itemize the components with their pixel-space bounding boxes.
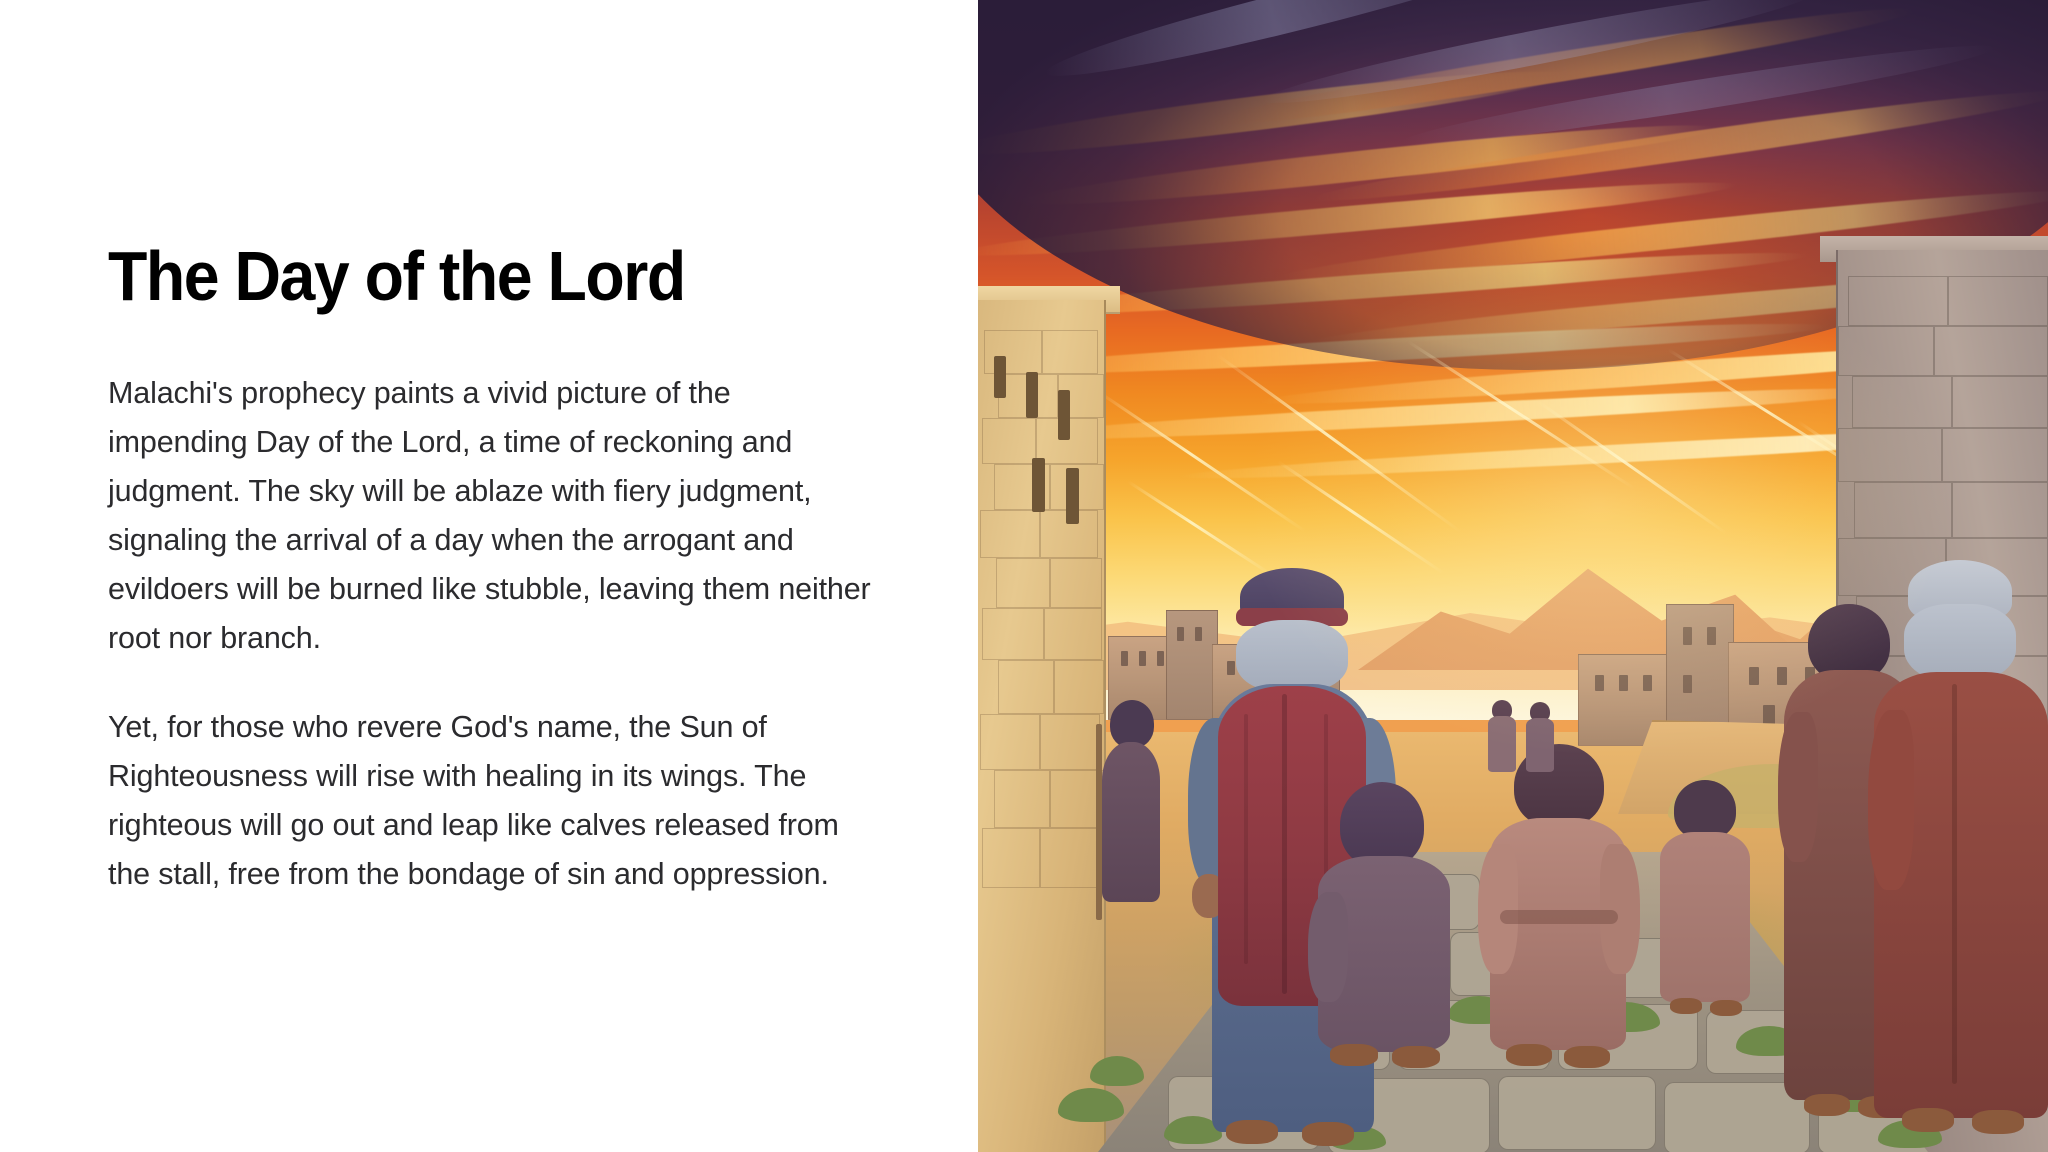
figure-adult-rightmost (1868, 560, 2048, 1152)
text-content-block: The Day of the Lord Malachi's prophecy p… (108, 239, 878, 899)
slide-root: The Day of the Lord Malachi's prophecy p… (0, 0, 2048, 1152)
body-paragraph-2: Yet, for those who revere God's name, th… (108, 703, 878, 899)
page-title: The Day of the Lord (108, 239, 816, 313)
figure-child-left (1096, 700, 1168, 920)
figure-child-center (1478, 744, 1638, 1074)
left-wall-windows (992, 356, 1102, 526)
text-panel: The Day of the Lord Malachi's prophecy p… (0, 0, 978, 1152)
illustration-panel (978, 0, 2048, 1152)
figure-child-right (1650, 780, 1760, 1030)
body-paragraph-1: Malachi's prophecy paints a vivid pictur… (108, 369, 878, 663)
figure-child-seated (1308, 782, 1458, 1072)
figure-distant-pair (1486, 700, 1572, 776)
